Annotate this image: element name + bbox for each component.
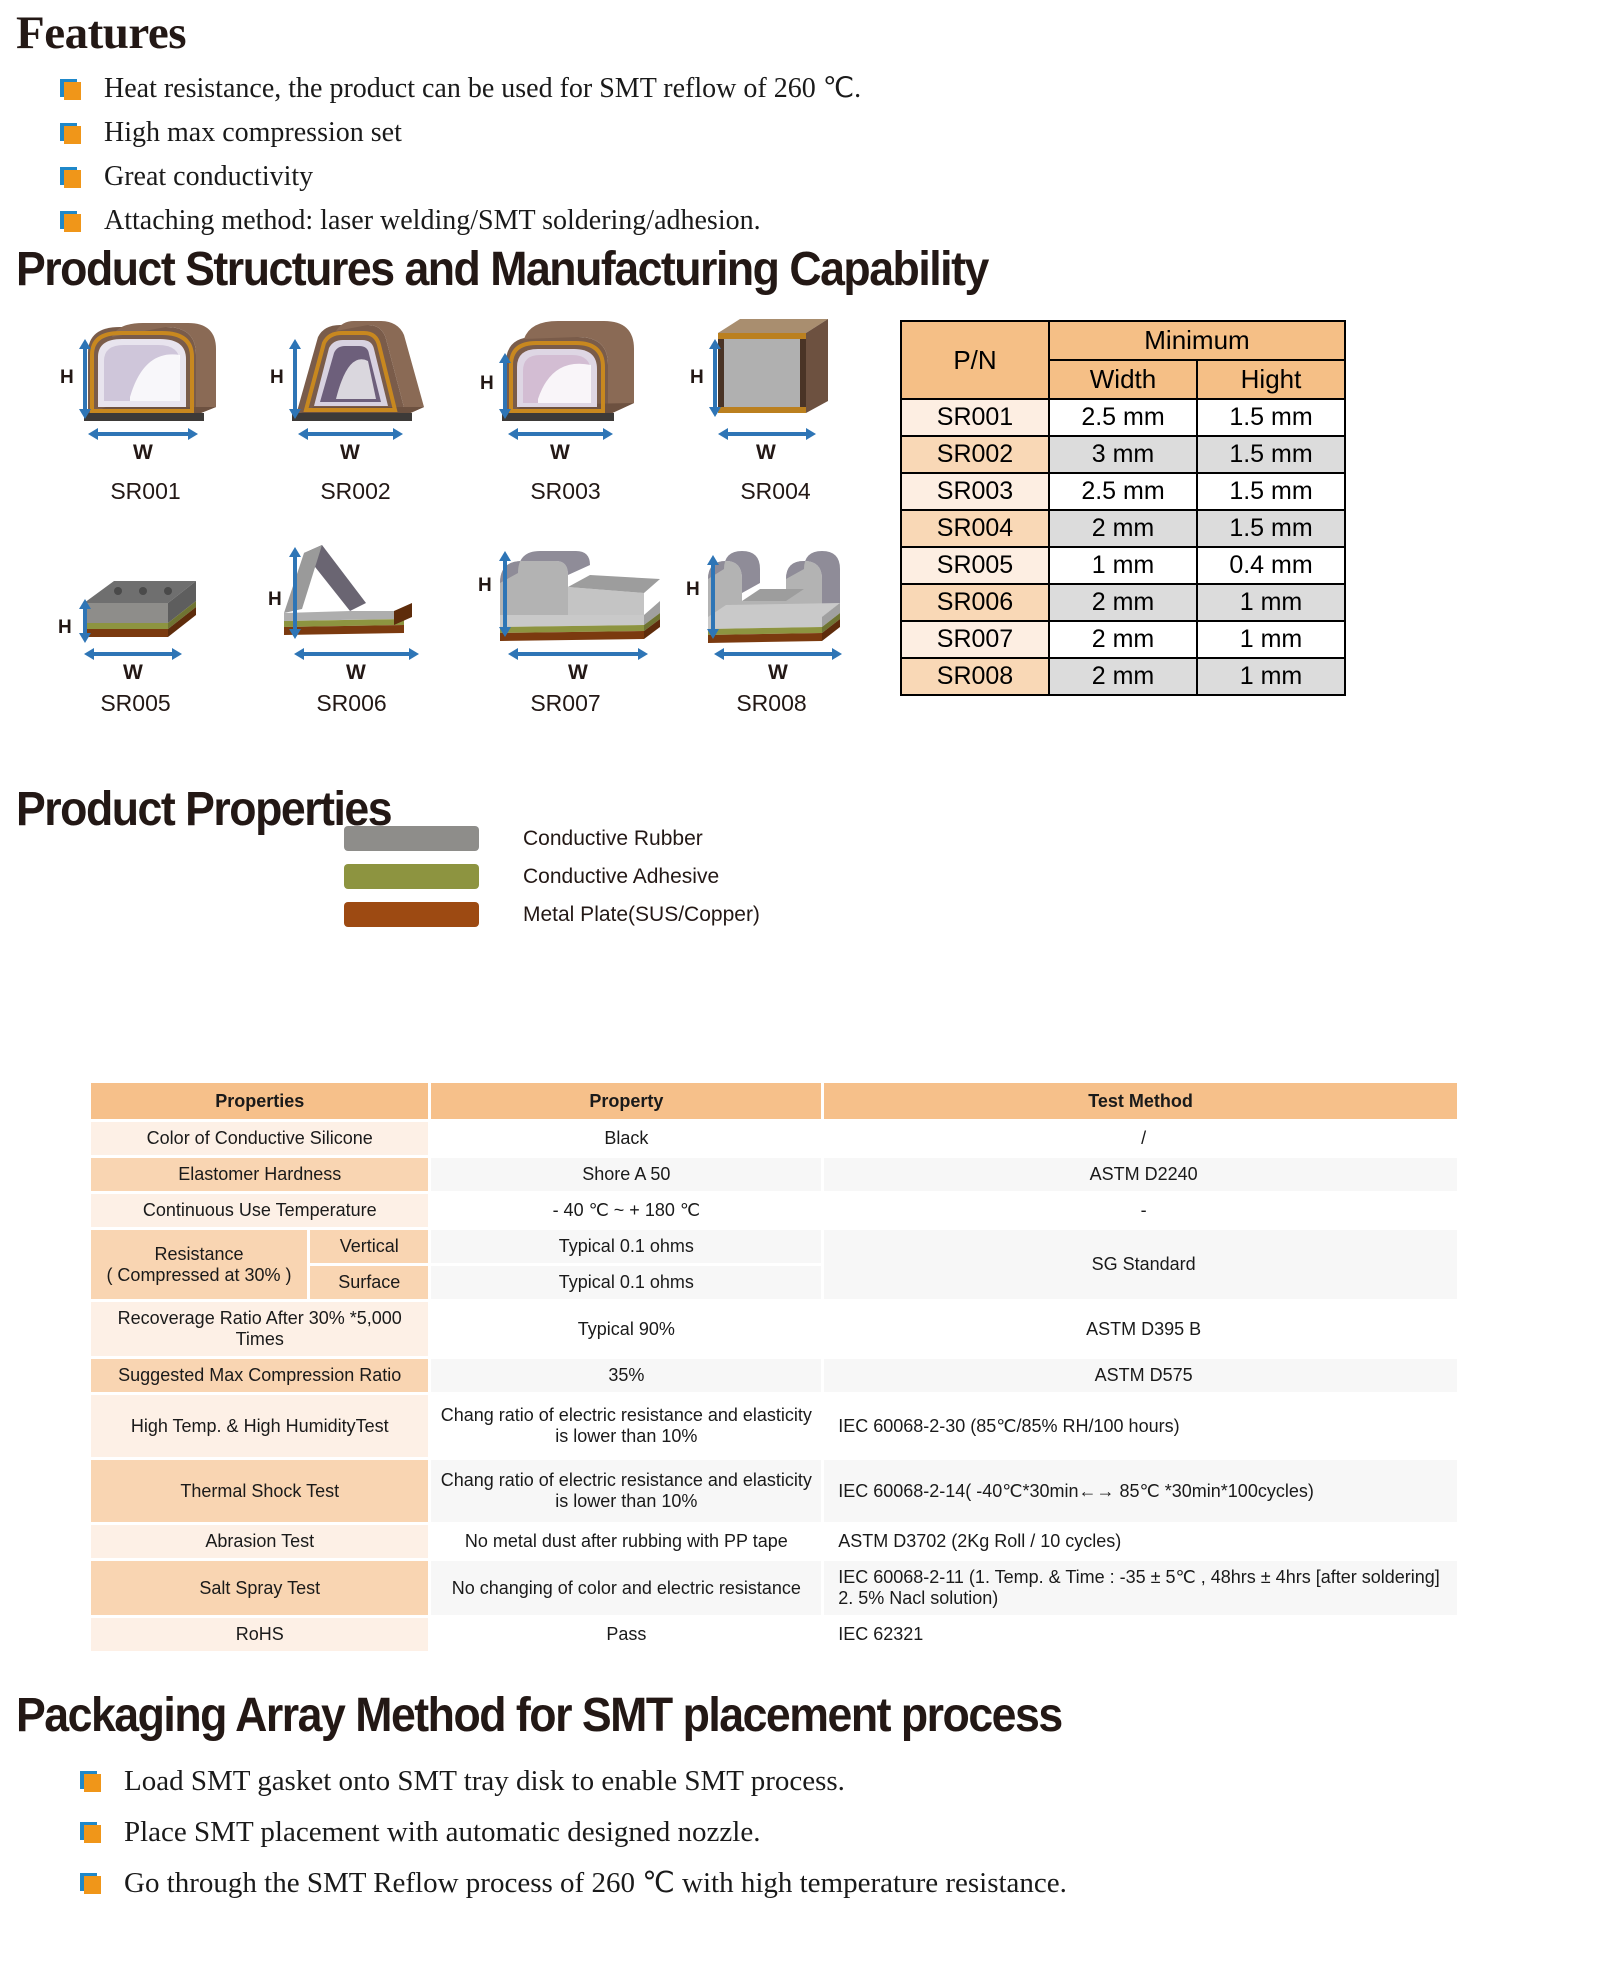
table-row: Resistance ( Compressed at 30% ) Vertica…: [91, 1230, 1457, 1263]
legend-item: Conductive Rubber: [344, 826, 760, 851]
pn-header-cell: P/N: [901, 321, 1049, 399]
property-value-cell: Chang ratio of electric resistance and e…: [431, 1460, 821, 1522]
table-row: Thermal Shock Test Chang ratio of electr…: [91, 1460, 1457, 1522]
hight-cell: 1.5 mm: [1197, 473, 1345, 510]
legend-label: Metal Plate(SUS/Copper): [523, 903, 760, 927]
sr008-shape-icon: [674, 531, 874, 666]
bullet-square-icon: [60, 167, 82, 189]
resistance-sub-surface-cell: Surface: [310, 1266, 429, 1299]
resistance-sub-vertical-cell: Vertical: [310, 1230, 429, 1263]
diagram-label: SR001: [58, 478, 233, 505]
sr001-h-label: H: [60, 367, 74, 389]
minimum-header-cell: Minimum: [1049, 321, 1345, 360]
hight-cell: 0.4 mm: [1197, 547, 1345, 584]
legend-label: Conductive Adhesive: [523, 865, 719, 889]
width-cell: 2 mm: [1049, 658, 1197, 695]
diagram-label: SR003: [478, 478, 653, 505]
sr002-h-label: H: [270, 367, 284, 389]
width-cell: 2 mm: [1049, 510, 1197, 547]
diagram-sr002: H W SR002: [250, 315, 460, 505]
sr007-w-label: W: [568, 661, 588, 685]
width-cell: 2 mm: [1049, 621, 1197, 658]
pn-cell: SR008: [901, 658, 1049, 695]
table-header-row: Properties Property Test Method: [91, 1083, 1457, 1119]
hight-cell: 1 mm: [1197, 621, 1345, 658]
sr008-w-arrow-icon: [714, 647, 842, 661]
width-cell: 2.5 mm: [1049, 473, 1197, 510]
diagram-label: SR004: [688, 478, 863, 505]
legend-item: Conductive Adhesive: [344, 864, 760, 889]
test-method-cell: -: [824, 1194, 1457, 1227]
table-row: SR006 2 mm 1 mm: [901, 584, 1345, 621]
property-value-cell: Typical 0.1 ohms: [431, 1230, 821, 1263]
sr004-h-label: H: [690, 367, 704, 389]
diagram-sr003: H W SR003: [460, 315, 670, 505]
product-structure-diagrams: H W SR001 H: [40, 315, 880, 717]
resistance-label-cell: Resistance ( Compressed at 30% ): [91, 1230, 307, 1299]
sr001-h-arrow-icon: [78, 339, 92, 419]
width-cell: 2 mm: [1049, 584, 1197, 621]
diagram-label: SR007: [478, 690, 653, 717]
table-row: Color of Conductive Silicone Black /: [91, 1122, 1457, 1155]
legend-swatch-conductive-adhesive: [344, 864, 479, 889]
test-method-cell: ASTM D3702 (2Kg Roll / 10 cycles): [824, 1525, 1457, 1558]
sr004-w-arrow-icon: [718, 427, 816, 441]
pn-cell: SR006: [901, 584, 1049, 621]
diagram-label: SR005: [48, 690, 223, 717]
sr005-w-arrow-icon: [84, 647, 182, 661]
diagram-label: SR006: [264, 690, 439, 717]
diagram-label: SR008: [684, 690, 859, 717]
table-row: SR005 1 mm 0.4 mm: [901, 547, 1345, 584]
property-header-cell: Property: [431, 1083, 821, 1119]
sr005-h-label: H: [58, 617, 72, 639]
test-method-cell: ASTM D575: [824, 1359, 1457, 1392]
property-value-cell: - 40 ℃ ~ + 180 ℃: [431, 1194, 821, 1227]
test-method-cell: IEC 60068-2-30 (85℃/85% RH/100 hours): [824, 1395, 1457, 1457]
test-method-cell: IEC 62321: [824, 1618, 1457, 1651]
properties-header-cell: Properties: [91, 1083, 428, 1119]
materials-legend: Conductive Rubber Conductive Adhesive Me…: [344, 826, 760, 940]
resistance-label-line1: Resistance: [154, 1244, 243, 1264]
test-method-cell: SG Standard: [824, 1230, 1457, 1299]
legend-label: Conductive Rubber: [523, 827, 703, 851]
hight-cell: 1.5 mm: [1197, 436, 1345, 473]
page-title-properties: Product Properties: [16, 786, 391, 834]
hight-cell: 1 mm: [1197, 584, 1345, 621]
table-row: Salt Spray Test No changing of color and…: [91, 1561, 1457, 1615]
feature-text: High max compression set: [104, 116, 402, 149]
diagram-sr005: H W SR005: [40, 527, 250, 717]
feature-text: Attaching method: laser welding/SMT sold…: [104, 204, 761, 237]
pn-minimum-table: P/N Minimum Width Hight SR001 2.5 mm 1.5…: [900, 320, 1346, 696]
table-row: RoHS Pass IEC 62321: [91, 1618, 1457, 1651]
pn-cell: SR001: [901, 399, 1049, 436]
product-properties-table: Properties Property Test Method Color of…: [88, 1080, 1460, 1654]
diagram-sr006: H W SR006: [250, 527, 460, 717]
feature-text: Heat resistance, the product can be used…: [104, 72, 861, 105]
test-method-cell: ASTM D2240: [824, 1158, 1457, 1191]
features-list: Heat resistance, the product can be used…: [60, 72, 861, 248]
sr007-h-arrow-icon: [498, 551, 512, 637]
width-cell: 3 mm: [1049, 436, 1197, 473]
table-row: Suggested Max Compression Ratio 35% ASTM…: [91, 1359, 1457, 1392]
page-title-structures: Product Structures and Manufacturing Cap…: [16, 246, 988, 294]
pn-cell: SR002: [901, 436, 1049, 473]
property-label-cell: Thermal Shock Test: [91, 1460, 428, 1522]
hight-cell: 1.5 mm: [1197, 399, 1345, 436]
list-item: Go through the SMT Reflow process of 260…: [80, 1866, 1067, 1900]
diagram-sr008: H W SR008: [670, 527, 880, 717]
sr004-h-arrow-icon: [708, 339, 722, 417]
table-row: Continuous Use Temperature - 40 ℃ ~ + 18…: [91, 1194, 1457, 1227]
table-row: SR003 2.5 mm 1.5 mm: [901, 473, 1345, 510]
sr004-w-label: W: [756, 441, 776, 465]
property-value-cell: No metal dust after rubbing with PP tape: [431, 1525, 821, 1558]
list-item: Attaching method: laser welding/SMT sold…: [60, 204, 861, 237]
sr002-w-label: W: [340, 441, 360, 465]
list-item: Great conductivity: [60, 160, 861, 193]
diagram-sr004: H W SR004: [670, 315, 880, 505]
sr006-h-label: H: [268, 589, 282, 611]
list-item: High max compression set: [60, 116, 861, 149]
legend-swatch-metal-plate: [344, 902, 479, 927]
test-method-cell: IEC 60068-2-14( -40℃*30min←→ 85℃ *30min*…: [824, 1460, 1457, 1522]
property-value-cell: Black: [431, 1122, 821, 1155]
test-method-header-cell: Test Method: [824, 1083, 1457, 1119]
sr008-h-arrow-icon: [706, 555, 720, 639]
sr001-w-arrow-icon: [88, 427, 198, 441]
pn-cell: SR004: [901, 510, 1049, 547]
sr007-w-arrow-icon: [508, 647, 648, 661]
sr003-w-label: W: [550, 441, 570, 465]
diagram-sr007: H W SR007: [460, 527, 670, 717]
sr008-w-label: W: [768, 661, 788, 685]
width-cell: 1 mm: [1049, 547, 1197, 584]
property-value-cell: 35%: [431, 1359, 821, 1392]
sr007-h-label: H: [478, 575, 492, 597]
property-value-cell: Shore A 50: [431, 1158, 821, 1191]
property-label-cell: Recoverage Ratio After 30% *5,000 Times: [91, 1302, 428, 1356]
property-label-cell: RoHS: [91, 1618, 428, 1651]
property-value-cell: Typical 0.1 ohms: [431, 1266, 821, 1299]
bullet-square-icon: [60, 79, 82, 101]
table-row: SR004 2 mm 1.5 mm: [901, 510, 1345, 547]
sr001-w-label: W: [133, 441, 153, 465]
diagram-sr001: H W SR001: [40, 315, 250, 505]
bullet-square-icon: [60, 123, 82, 145]
table-row: High Temp. & High HumidityTest Chang rat…: [91, 1395, 1457, 1457]
width-header-cell: Width: [1049, 360, 1197, 399]
table-row: Abrasion Test No metal dust after rubbin…: [91, 1525, 1457, 1558]
table-row: SR001 2.5 mm 1.5 mm: [901, 399, 1345, 436]
test-method-cell: IEC 60068-2-11 (1. Temp. & Time : -35 ± …: [824, 1561, 1457, 1615]
list-item: Heat resistance, the product can be used…: [60, 72, 861, 105]
pn-cell: SR005: [901, 547, 1049, 584]
property-label-cell: Salt Spray Test: [91, 1561, 428, 1615]
legend-item: Metal Plate(SUS/Copper): [344, 902, 760, 927]
table-row: SR007 2 mm 1 mm: [901, 621, 1345, 658]
pn-cell: SR007: [901, 621, 1049, 658]
packaging-step-text: Place SMT placement with automatic desig…: [124, 1815, 760, 1849]
property-value-cell: No changing of color and electric resist…: [431, 1561, 821, 1615]
diagram-row-1: H W SR001 H: [40, 315, 880, 505]
page-title-packaging: Packaging Array Method for SMT placement…: [16, 1692, 1062, 1740]
sr008-h-label: H: [686, 579, 700, 601]
diagram-label: SR002: [268, 478, 443, 505]
sr005-h-arrow-icon: [78, 599, 92, 643]
page-title-features: Features: [16, 10, 186, 57]
feature-text: Great conductivity: [104, 160, 313, 193]
bullet-square-icon: [80, 1771, 102, 1793]
property-value-cell: Pass: [431, 1618, 821, 1651]
table-row: Elastomer Hardness Shore A 50 ASTM D2240: [91, 1158, 1457, 1191]
list-item: Place SMT placement with automatic desig…: [80, 1815, 1067, 1849]
bullet-square-icon: [60, 211, 82, 233]
sr006-w-arrow-icon: [294, 647, 419, 661]
property-label-cell: Suggested Max Compression Ratio: [91, 1359, 428, 1392]
sr006-shape-icon: [254, 531, 454, 666]
sr003-h-label: H: [480, 373, 494, 395]
sr002-h-arrow-icon: [288, 339, 302, 419]
hight-header-cell: Hight: [1197, 360, 1345, 399]
diagram-row-2: H W SR005 H: [40, 527, 880, 717]
sr003-h-arrow-icon: [498, 353, 512, 419]
bullet-square-icon: [80, 1873, 102, 1895]
sr006-w-label: W: [346, 661, 366, 685]
sr003-w-arrow-icon: [508, 427, 613, 441]
pn-cell: SR003: [901, 473, 1049, 510]
property-label-cell: Color of Conductive Silicone: [91, 1122, 428, 1155]
hight-cell: 1 mm: [1197, 658, 1345, 695]
table-row: SR002 3 mm 1.5 mm: [901, 436, 1345, 473]
test-method-cell: ASTM D395 B: [824, 1302, 1457, 1356]
sr006-h-arrow-icon: [288, 547, 302, 639]
property-label-cell: Elastomer Hardness: [91, 1158, 428, 1191]
sr002-w-arrow-icon: [298, 427, 403, 441]
property-value-cell: Typical 90%: [431, 1302, 821, 1356]
table-header-row: P/N Minimum: [901, 321, 1345, 360]
property-label-cell: Continuous Use Temperature: [91, 1194, 428, 1227]
sr007-shape-icon: [464, 531, 674, 666]
property-value-cell: Chang ratio of electric resistance and e…: [431, 1395, 821, 1457]
property-label-cell: Abrasion Test: [91, 1525, 428, 1558]
packaging-list: Load SMT gasket onto SMT tray disk to en…: [80, 1764, 1067, 1912]
test-method-cell: /: [824, 1122, 1457, 1155]
table-row: Recoverage Ratio After 30% *5,000 Times …: [91, 1302, 1457, 1356]
width-cell: 2.5 mm: [1049, 399, 1197, 436]
property-label-cell: High Temp. & High HumidityTest: [91, 1395, 428, 1457]
sr005-w-label: W: [123, 661, 143, 685]
packaging-step-text: Go through the SMT Reflow process of 260…: [124, 1866, 1067, 1900]
hight-cell: 1.5 mm: [1197, 510, 1345, 547]
table-row: SR008 2 mm 1 mm: [901, 658, 1345, 695]
packaging-step-text: Load SMT gasket onto SMT tray disk to en…: [124, 1764, 845, 1798]
bullet-square-icon: [80, 1822, 102, 1844]
resistance-label-line2: ( Compressed at 30% ): [106, 1265, 291, 1285]
list-item: Load SMT gasket onto SMT tray disk to en…: [80, 1764, 1067, 1798]
